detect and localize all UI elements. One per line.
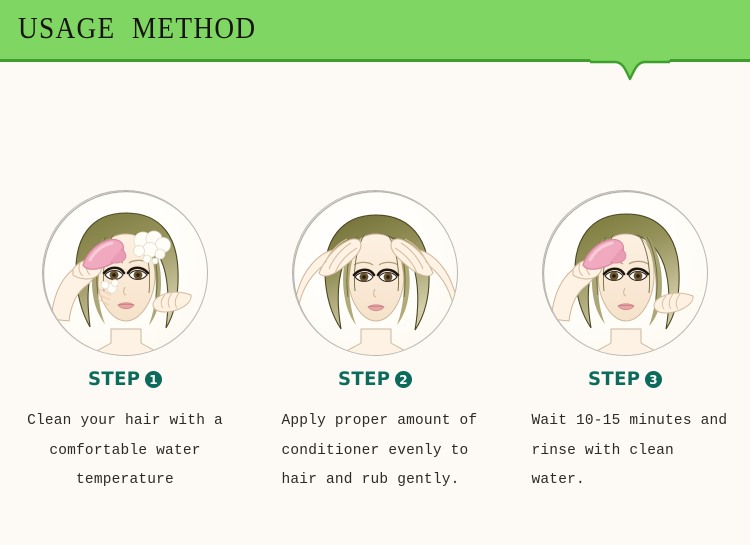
step-1-caption: Clean your hair with a comfortable water… (18, 407, 233, 496)
steps-container: STEP 1 Clean your hair with a comfortabl… (0, 62, 750, 545)
step-3-illustration (542, 190, 708, 356)
step-3-label-word: STEP (588, 370, 640, 389)
step-card-2: STEP 2 Apply proper amount of conditione… (250, 62, 500, 545)
step-3-number-badge: 3 (645, 371, 662, 388)
woman-combing-hair-icon (543, 191, 708, 356)
step-2-illustration (292, 190, 458, 356)
step-1-number-badge: 1 (145, 371, 162, 388)
step-card-3: STEP 3 Wait 10-15 minutes and rinse with… (500, 62, 750, 545)
step-3-caption: Wait 10-15 minutes and rinse with clean … (518, 407, 733, 496)
step-2-label-word: STEP (338, 370, 390, 389)
page-header: USAGE METHOD (0, 0, 750, 62)
step-1-label-word: STEP (88, 370, 140, 389)
step-card-1: STEP 1 Clean your hair with a comfortabl… (0, 62, 250, 545)
step-1-label: STEP 1 (88, 370, 162, 389)
woman-combing-hair-with-foam-icon (43, 191, 208, 356)
step-2-number-badge: 2 (395, 371, 412, 388)
step-2-caption: Apply proper amount of conditioner evenl… (268, 407, 483, 496)
woman-massaging-scalp-icon (293, 191, 458, 356)
step-2-label: STEP 2 (338, 370, 412, 389)
step-1-illustration (42, 190, 208, 356)
step-3-label: STEP 3 (588, 370, 662, 389)
page-title: USAGE METHOD (18, 10, 256, 46)
